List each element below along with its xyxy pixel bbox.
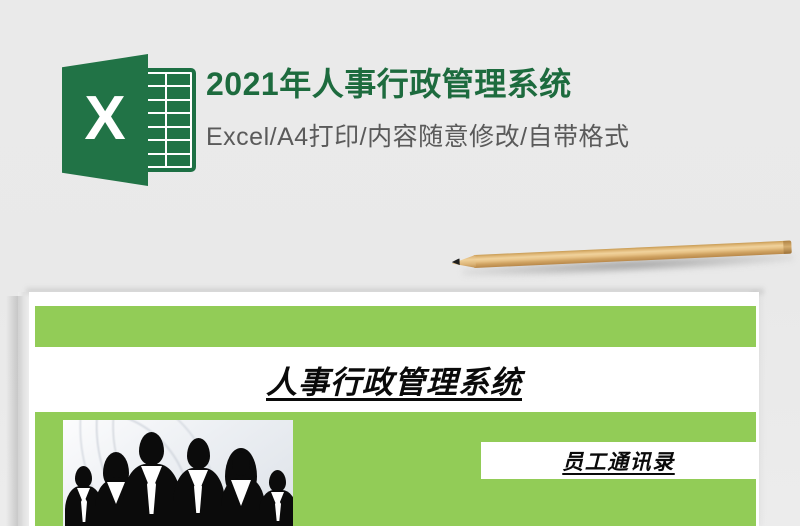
pencil-lead [452, 258, 460, 265]
document-heading-text: 人事行政管理系统 [266, 357, 522, 402]
document-heading: 人事行政管理系统 [29, 350, 759, 408]
screenshot-canvas: X 2021年人事行政管理系统 Excel/A4打印/内容随意修改/自带格式 人… [0, 0, 800, 526]
business-people-silhouette-image [63, 420, 293, 526]
excel-logo-letter: X [62, 54, 148, 186]
employee-directory-button[interactable]: 员工通讯录 [481, 442, 756, 479]
document-page[interactable]: 人事行政管理系统 [29, 292, 759, 526]
pencil-end [783, 241, 792, 254]
employee-directory-label: 员工通讯录 [562, 446, 675, 476]
header-color-band [35, 306, 756, 347]
